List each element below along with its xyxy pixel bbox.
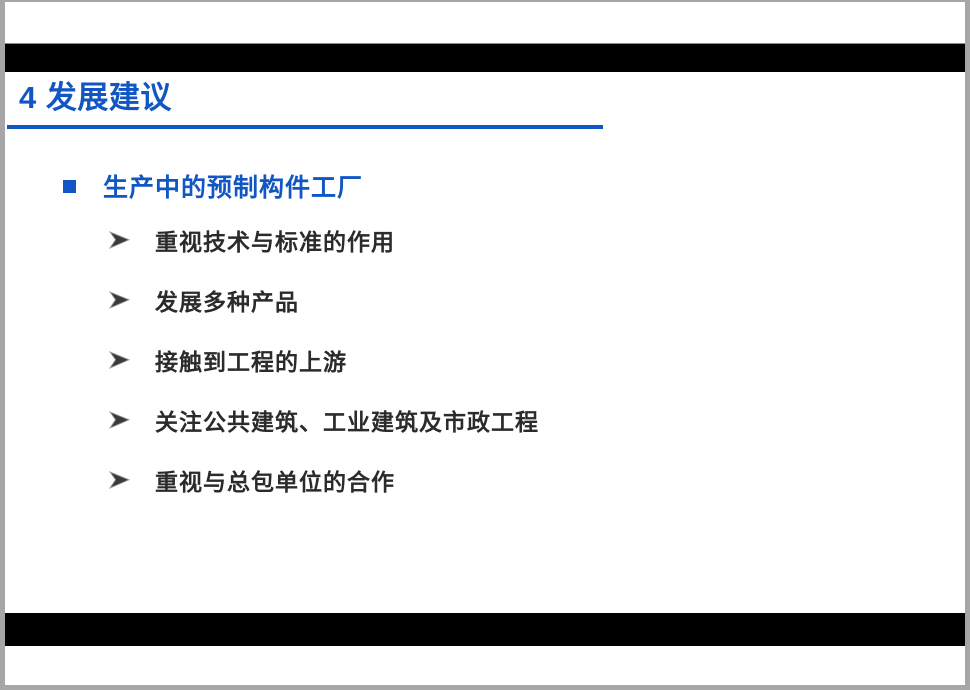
presentation-slide: 4 发展建议 生产中的预制构件工厂 重视技术与标准的作用 — [0, 0, 970, 690]
bullet-item-level1: 生产中的预制构件工厂 — [5, 162, 965, 210]
bullet-label: 关注公共建筑、工业建筑及市政工程 — [155, 403, 539, 437]
slide-body-content: 生产中的预制构件工厂 重视技术与标准的作用 发展多种产品 — [5, 162, 965, 510]
bullet-item-level2: 发展多种产品 — [5, 270, 965, 330]
arrowhead-bullet-icon — [108, 229, 132, 251]
bullet-label: 生产中的预制构件工厂 — [103, 168, 363, 204]
slide-title-block: 4 发展建议 — [5, 74, 605, 129]
bullet-label: 发展多种产品 — [155, 283, 299, 317]
bullet-label: 重视技术与标准的作用 — [155, 223, 395, 257]
bullet-item-level2: 关注公共建筑、工业建筑及市政工程 — [5, 390, 965, 450]
arrowhead-bullet-icon — [108, 409, 132, 431]
bullet-label: 接触到工程的上游 — [155, 343, 347, 377]
square-bullet-icon — [63, 180, 76, 193]
bullet-item-level2: 重视技术与标准的作用 — [5, 210, 965, 270]
bullet-label: 重视与总包单位的合作 — [155, 463, 395, 497]
title-underline-rule — [7, 125, 603, 129]
bottom-decorative-band — [5, 613, 965, 646]
bullet-item-level2: 接触到工程的上游 — [5, 330, 965, 390]
arrowhead-bullet-icon — [108, 289, 132, 311]
top-decorative-band — [5, 43, 965, 72]
slide-canvas: 4 发展建议 生产中的预制构件工厂 重视技术与标准的作用 — [5, 2, 965, 685]
arrowhead-bullet-icon — [108, 469, 132, 491]
arrowhead-bullet-icon — [108, 349, 132, 371]
bullet-item-level2: 重视与总包单位的合作 — [5, 450, 965, 510]
page-title: 4 发展建议 — [5, 74, 605, 117]
